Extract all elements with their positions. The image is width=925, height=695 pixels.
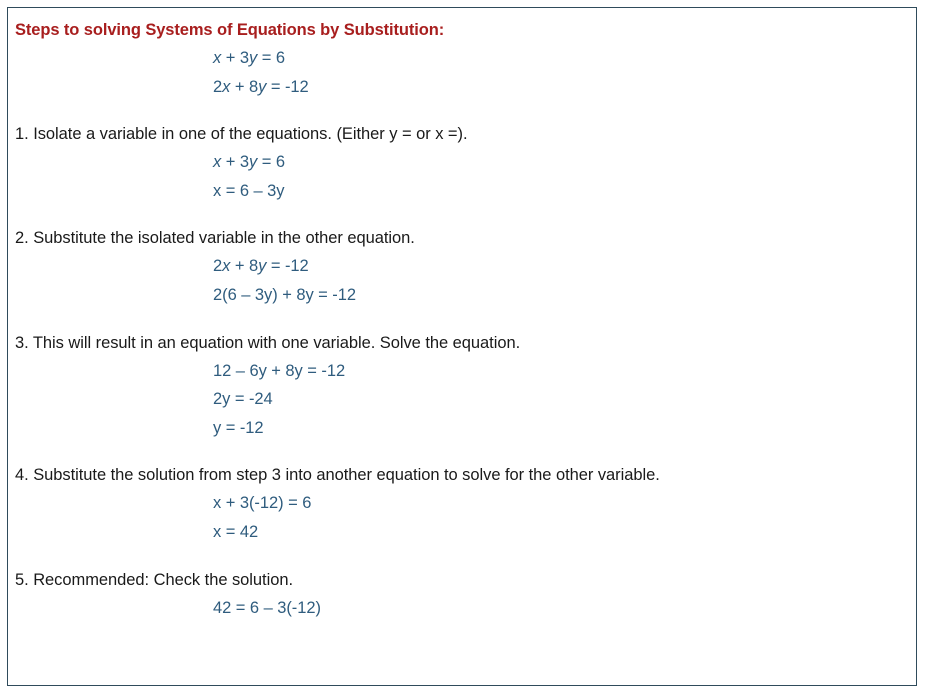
variable-x: x [213,49,221,67]
step-1-text: 1. Isolate a variable in one of the equa… [15,123,916,146]
step-3-equation-3: y = -12 [15,414,916,443]
variable-y: y [258,257,266,275]
step-2-equation-group: 2x + 8y = -12 2(6 – 3y) + 8y = -12 [15,250,916,309]
step-1-equation-2: x = 6 – 3y [15,177,916,206]
page-title: Steps to solving Systems of Equations by… [15,19,916,42]
step-4-equation-2: x = 42 [15,518,916,547]
variable-y: y [258,78,266,96]
intro-equation-1: x + 3y = 6 [15,44,916,73]
spacer [15,101,916,123]
intro-equation-2: 2x + 8y = -12 [15,73,916,102]
spacer [15,310,916,332]
variable-x: x [213,153,221,171]
step-3-equation-group: 12 – 6y + 8y = -12 2y = -24 y = -12 [15,355,916,443]
step-5-equation-1: 42 = 6 – 3(-12) [15,594,916,623]
variable-x: x [222,257,230,275]
lesson-card: Steps to solving Systems of Equations by… [7,7,917,686]
step-4-equation-group: x + 3(-12) = 6 x = 42 [15,487,916,546]
variable-y: y [249,153,257,171]
step-2-equation-2: 2(6 – 3y) + 8y = -12 [15,281,916,310]
step-4-text: 4. Substitute the solution from step 3 i… [15,464,916,487]
step-1-equation-1: x + 3y = 6 [15,148,916,177]
step-1-equation-group: x + 3y = 6 x = 6 – 3y [15,146,916,205]
step-3-equation-1: 12 – 6y + 8y = -12 [15,357,916,386]
step-3-equation-2: 2y = -24 [15,385,916,414]
step-5-equation-group: 42 = 6 – 3(-12) [15,592,916,623]
spacer [15,205,916,227]
intro-equation-group: x + 3y = 6 2x + 8y = -12 [15,42,916,101]
lesson-content: Steps to solving Systems of Equations by… [8,8,916,622]
spacer [15,547,916,569]
step-2-equation-1: 2x + 8y = -12 [15,252,916,281]
step-5-text: 5. Recommended: Check the solution. [15,569,916,592]
step-3-text: 3. This will result in an equation with … [15,332,916,355]
variable-x: x [222,78,230,96]
variable-y: y [249,49,257,67]
step-4-equation-1: x + 3(-12) = 6 [15,489,916,518]
step-2-text: 2. Substitute the isolated variable in t… [15,227,916,250]
spacer [15,442,916,464]
